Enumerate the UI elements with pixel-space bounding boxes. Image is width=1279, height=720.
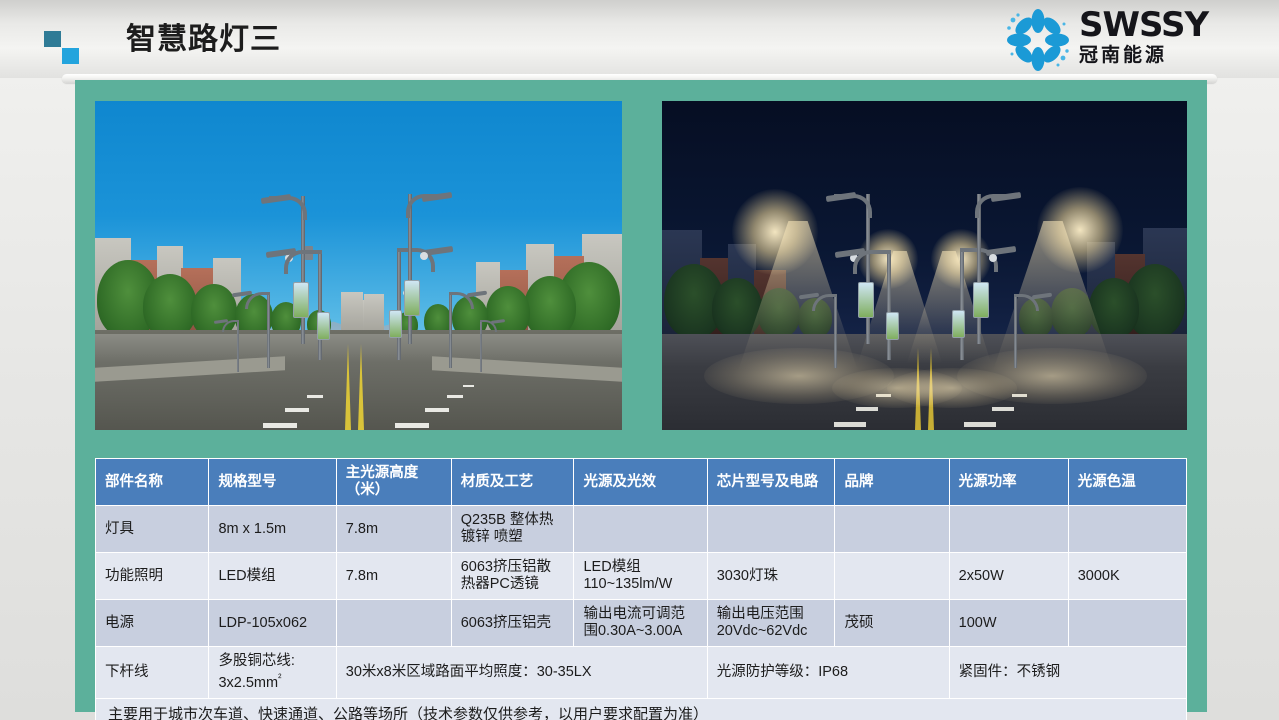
road-light-pool <box>887 368 1017 408</box>
smart-street-lamp-pole <box>447 292 473 368</box>
day-lane-dash <box>463 385 474 387</box>
day-center-line <box>358 344 364 430</box>
column-header-chip: 芯片型号及电路 <box>708 459 835 505</box>
cell-chip <box>708 506 835 552</box>
cell-brand: 茂硕 <box>835 600 948 646</box>
smart-street-lamp-pole <box>813 294 839 368</box>
day-center-line <box>345 344 351 430</box>
smart-street-lamp-pole <box>386 194 430 344</box>
logo-text-group: SWSSY 冠南能源 <box>1079 6 1263 76</box>
day-tree <box>524 276 576 338</box>
cell-part-name: 功能照明 <box>96 553 208 599</box>
cell-fastener: 紧固件：不锈钢 <box>950 647 1186 698</box>
logo-brand-text: SWSSY <box>1079 6 1263 44</box>
cell-brand <box>835 506 948 552</box>
table-row-last: 下杆线 多股铜芯线: 3x2.5mm² 30米x8米区域路面平均照度：30-35… <box>96 647 1186 698</box>
table-row: 灯具 8m x 1.5m 7.8m Q235B 整体热镀锌 喷塑 <box>96 506 1186 552</box>
footer-note: 主要用于城市次车道、快速通道、公路等场所（技术参数仅供参考，以用户要求配置为准） <box>96 699 1186 720</box>
column-header-part-name: 部件名称 <box>96 459 208 505</box>
cell-power: 100W <box>950 600 1068 646</box>
night-lane-dash <box>856 407 878 411</box>
cell-model: LED模组 <box>209 553 335 599</box>
cell-chip: 3030灯珠 <box>708 553 835 599</box>
table-header-row: 部件名称 规格型号 主光源高度（米） 材质及工艺 光源及光效 芯片型号及电路 品… <box>96 459 1186 505</box>
day-tree <box>143 274 197 338</box>
cable-spec-line1: 多股铜芯线: <box>218 653 295 669</box>
smart-street-lamp-pole <box>246 292 272 368</box>
decor-square-light-icon <box>62 48 79 64</box>
nighttime-street-lights-photo <box>662 101 1187 430</box>
day-building <box>341 292 363 334</box>
smart-street-lamp-pole <box>292 250 326 360</box>
night-lane-dash <box>992 407 1014 411</box>
title-decoration <box>44 31 88 65</box>
cell-height: 7.8m <box>337 506 451 552</box>
column-header-material: 材质及工艺 <box>452 459 574 505</box>
cell-material: 6063挤压铝散热器PC透镜 <box>452 553 574 599</box>
cell-light-source: LED模组 110~135lm/W <box>574 553 706 599</box>
column-header-model: 规格型号 <box>209 459 335 505</box>
cell-color-temp <box>1069 600 1186 646</box>
cell-color-temp <box>1069 506 1186 552</box>
smart-street-lamp-pole <box>955 194 999 344</box>
cell-light-source: 输出电流可调范围0.30A~3.00A <box>574 600 706 646</box>
cell-protection-rating: 光源防护等级：IP68 <box>708 647 949 698</box>
smart-street-lamp-pole <box>479 320 499 372</box>
cell-height <box>337 600 451 646</box>
cable-spec-line2: 3x2.5mm <box>218 675 278 691</box>
cell-cable-spec: 多股铜芯线: 3x2.5mm² <box>209 647 335 698</box>
cell-height: 7.8m <box>337 553 451 599</box>
cell-power <box>950 506 1068 552</box>
night-lane-dash <box>834 422 866 427</box>
decor-square-dark-icon <box>44 31 61 47</box>
cell-illuminance: 30米x8米区域路面平均照度：30-35LX <box>337 647 707 698</box>
table-row: 电源 LDP-105x062 6063挤压铝壳 输出电流可调范围0.30A~3.… <box>96 600 1186 646</box>
cell-part-name: 灯具 <box>96 506 208 552</box>
slide-header: 智慧路灯三 <box>0 0 1279 78</box>
cell-chip: 输出电压范围20Vdc~62Vdc <box>708 600 835 646</box>
table-row: 功能照明 LED模组 7.8m 6063挤压铝散热器PC透镜 LED模组 110… <box>96 553 1186 599</box>
day-lane-dash <box>447 395 463 398</box>
day-lane-dash <box>425 408 449 412</box>
slide: 智慧路灯三 <box>0 0 1279 720</box>
cell-material: Q235B 整体热镀锌 喷塑 <box>452 506 574 552</box>
page-title: 智慧路灯三 <box>126 20 281 60</box>
day-building <box>364 294 384 334</box>
column-header-power: 光源功率 <box>950 459 1068 505</box>
smart-street-lamp-pole <box>220 320 240 372</box>
cell-color-temp: 3000K <box>1069 553 1186 599</box>
column-header-light-source: 光源及光效 <box>574 459 706 505</box>
cell-part-name: 下杆线 <box>96 647 208 698</box>
smart-street-lamp-pole <box>861 250 895 360</box>
column-header-brand: 品牌 <box>835 459 948 505</box>
cell-model: LDP-105x062 <box>209 600 335 646</box>
smart-street-lamp-pole <box>1012 294 1038 368</box>
day-lane-dash <box>307 395 323 398</box>
column-header-color-temp: 光源色温 <box>1069 459 1186 505</box>
company-logo: SWSSY 冠南能源 <box>1003 4 1263 76</box>
cell-brand <box>835 553 948 599</box>
table-footer-row: 主要用于城市次车道、快速通道、公路等场所（技术参数仅供参考，以用户要求配置为准） <box>96 699 1186 720</box>
flower-petal-logo-icon <box>1003 8 1073 72</box>
day-lane-dash <box>285 408 309 412</box>
day-lane-dash <box>263 423 297 428</box>
cable-spec-superscript: ² <box>278 673 281 684</box>
daytime-street-lights-photo <box>95 101 622 430</box>
specification-table: 部件名称 规格型号 主光源高度（米） 材质及工艺 光源及光效 芯片型号及电路 品… <box>95 458 1187 720</box>
cell-part-name: 电源 <box>96 600 208 646</box>
cell-model: 8m x 1.5m <box>209 506 335 552</box>
logo-sub-text: 冠南能源 <box>1079 44 1263 68</box>
cell-material: 6063挤压铝壳 <box>452 600 574 646</box>
column-header-height: 主光源高度（米） <box>337 459 451 505</box>
night-lane-dash <box>964 422 996 427</box>
cell-light-source <box>574 506 706 552</box>
day-lane-dash <box>395 423 429 428</box>
cell-power: 2x50W <box>950 553 1068 599</box>
